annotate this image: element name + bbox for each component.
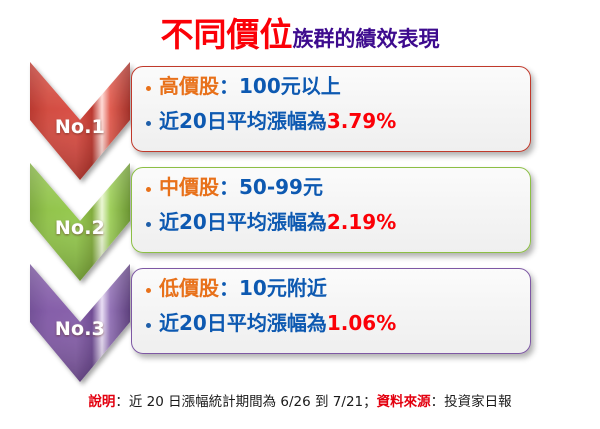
bullet-dot-icon — [146, 121, 151, 126]
detail-line-performance: 近20日平均漲幅為1.06% — [146, 313, 520, 333]
category-label: 中價股 — [159, 177, 219, 197]
bullet-dot-icon — [146, 187, 151, 192]
footer-note-text: ：近 20 日漲幅統計期間為 6/26 到 7/21； — [115, 394, 376, 410]
performance-prefix: 近20日平均漲幅為 — [159, 111, 327, 131]
footer-note: 說明：近 20 日漲幅統計期間為 6/26 到 7/21；資料來源：投資家日報 — [0, 390, 600, 410]
page-title: 不同價位族群的績效表現 — [0, 8, 600, 56]
performance-prefix: 近20日平均漲幅為 — [159, 313, 327, 333]
detail-line-performance: 近20日平均漲幅為2.19% — [146, 212, 520, 232]
bullet-dot-icon — [146, 288, 151, 293]
page-title-sub: 族群的績效表現 — [293, 27, 440, 51]
footer-source-text: ：投資家日報 — [431, 394, 512, 410]
category-value: ：50-99元 — [219, 177, 323, 197]
detail-line-category: 中價股：50-99元 — [146, 177, 520, 197]
bullet-dot-icon — [146, 86, 151, 91]
performance-value: 1.06% — [327, 313, 396, 333]
performance-value: 2.19% — [327, 212, 396, 232]
category-label: 低價股 — [159, 278, 219, 298]
rank-detail-box-1: 高價股：100元以上 近20日平均漲幅為3.79% — [131, 66, 531, 152]
footer-note-label: 說明 — [88, 394, 115, 410]
detail-line-performance: 近20日平均漲幅為3.79% — [146, 111, 520, 131]
category-label: 高價股 — [159, 76, 219, 96]
detail-line-category: 低價股：10元附近 — [146, 278, 520, 298]
category-value: ：10元附近 — [219, 278, 327, 298]
footer-source-label: 資料來源 — [377, 394, 431, 410]
performance-value: 3.79% — [327, 111, 396, 131]
rank-detail-box-2: 中價股：50-99元 近20日平均漲幅為2.19% — [131, 167, 531, 253]
page-title-main: 不同價位 — [161, 15, 293, 54]
detail-line-category: 高價股：100元以上 — [146, 76, 520, 96]
rank-row-3: No.3 低價股：10元附近 近20日平均漲幅為1.06% — [0, 264, 600, 384]
rank-badge-3[interactable]: No.3 — [30, 264, 130, 384]
bullet-dot-icon — [146, 222, 151, 227]
down-chevron-icon — [30, 264, 130, 384]
category-value: ：100元以上 — [219, 76, 341, 96]
bullet-dot-icon — [146, 323, 151, 328]
rank-detail-box-3: 低價股：10元附近 近20日平均漲幅為1.06% — [131, 268, 531, 354]
performance-prefix: 近20日平均漲幅為 — [159, 212, 327, 232]
